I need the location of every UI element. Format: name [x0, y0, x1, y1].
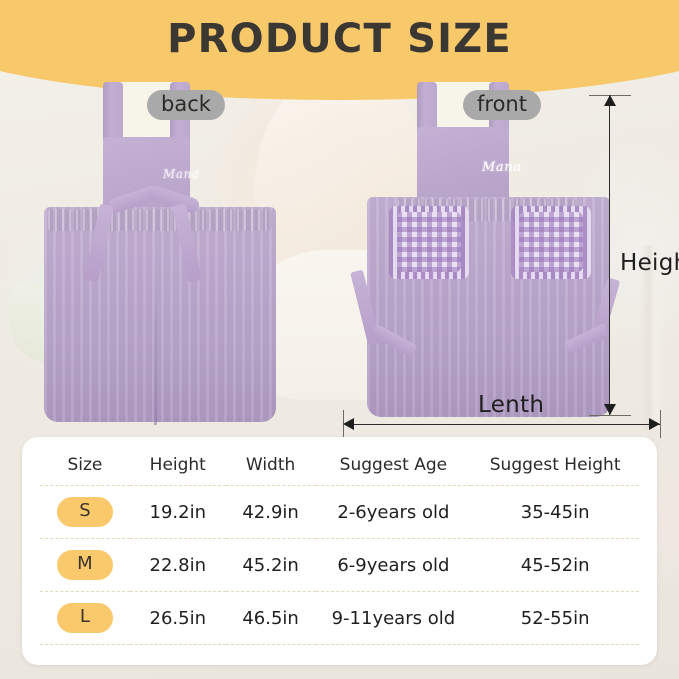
- back-skirt-gathers: [48, 209, 272, 231]
- cell-suggest-height: 35-45in: [471, 486, 639, 539]
- height-dimension-label: Heigh: [620, 250, 679, 276]
- height-dimension-cap-bottom: [589, 415, 631, 416]
- front-pocket-right: [519, 212, 583, 272]
- back-skirt: [44, 207, 276, 422]
- column-header-width: Width: [226, 447, 316, 486]
- column-header-suggest-height: Suggest Height: [471, 447, 639, 486]
- size-badge-cell: M: [40, 539, 130, 592]
- front-embroidery-text: Mana: [482, 160, 522, 175]
- back-embroidery-text: Mana: [163, 167, 200, 181]
- length-dimension-label: Lenth: [478, 392, 544, 418]
- front-pocket-left: [397, 212, 461, 272]
- cell-height: 22.8in: [130, 539, 226, 592]
- height-dimension-line: [609, 95, 610, 415]
- size-table: Size Height Width Suggest Age Suggest He…: [40, 447, 639, 645]
- table-row: M 22.8in 45.2in 6-9years old 45-52in: [40, 539, 639, 592]
- size-table-card: Size Height Width Suggest Age Suggest He…: [22, 437, 657, 665]
- column-header-height: Height: [130, 447, 226, 486]
- column-header-size: Size: [40, 447, 130, 486]
- page-title: PRODUCT SIZE: [0, 16, 679, 62]
- length-dimension-line: [345, 424, 660, 425]
- back-center-opening: [154, 277, 157, 425]
- cell-height: 26.5in: [130, 592, 226, 645]
- arrow-up-icon: [604, 95, 616, 106]
- apron-front-illustration: [355, 82, 625, 422]
- cell-suggest-age: 6-9years old: [316, 539, 472, 592]
- view-label-front: front: [463, 90, 541, 120]
- arrow-down-icon: [604, 404, 616, 415]
- cell-suggest-age: 9-11years old: [316, 592, 472, 645]
- length-dimension-cap-right: [660, 410, 661, 438]
- view-label-back: back: [147, 90, 225, 120]
- product-size-infographic: PRODUCT SIZE back Mana: [0, 0, 679, 679]
- apron-back-illustration: [30, 82, 320, 427]
- table-header-row: Size Height Width Suggest Age Suggest He…: [40, 447, 639, 486]
- status-badge: S: [57, 497, 113, 527]
- size-badge-cell: L: [40, 592, 130, 645]
- cell-suggest-age: 2-6years old: [316, 486, 472, 539]
- arrow-left-icon: [343, 418, 354, 430]
- cell-width: 45.2in: [226, 539, 316, 592]
- status-badge: M: [57, 550, 113, 580]
- column-header-suggest-age: Suggest Age: [316, 447, 472, 486]
- cell-width: 46.5in: [226, 592, 316, 645]
- table-row: S 19.2in 42.9in 2-6years old 35-45in: [40, 486, 639, 539]
- cell-width: 42.9in: [226, 486, 316, 539]
- size-badge-cell: S: [40, 486, 130, 539]
- table-row: L 26.5in 46.5in 9-11years old 52-55in: [40, 592, 639, 645]
- cell-suggest-height: 52-55in: [471, 592, 639, 645]
- status-badge: L: [57, 603, 113, 633]
- cell-height: 19.2in: [130, 486, 226, 539]
- arrow-right-icon: [649, 418, 660, 430]
- cell-suggest-height: 45-52in: [471, 539, 639, 592]
